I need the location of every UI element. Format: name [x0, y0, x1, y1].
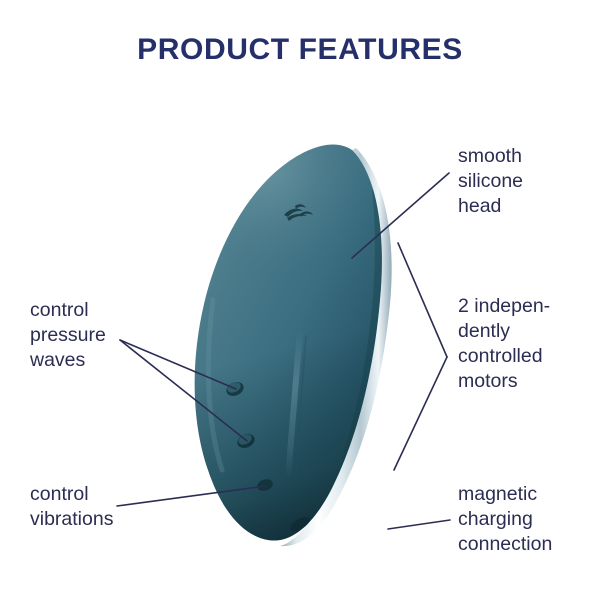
leader-line-motors-upper — [398, 243, 447, 357]
leader-line-smooth-silicone-head — [352, 173, 449, 258]
leader-line-pressure-waves-lower — [120, 340, 247, 441]
leader-line-pressure-waves-upper — [120, 340, 236, 389]
product-features-infographic: PRODUCT FEATURES — [0, 0, 600, 600]
leader-lines — [0, 0, 600, 600]
leader-line-vibrations — [117, 486, 266, 506]
leader-line-magnetic-charging — [388, 520, 450, 529]
leader-line-motors-lower — [394, 357, 447, 470]
